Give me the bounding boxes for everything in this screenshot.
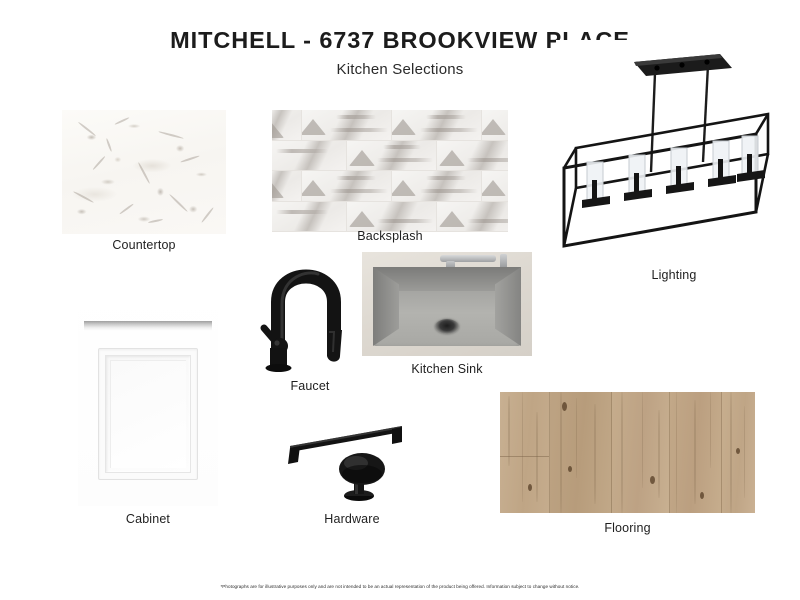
tile-vein: [330, 128, 388, 132]
tile-vein: [272, 122, 284, 138]
tile: [482, 110, 508, 141]
tile: [272, 110, 302, 141]
wood-grain: [694, 400, 696, 504]
tile: [437, 202, 508, 233]
wood-grain: [710, 392, 711, 468]
hardware-label: Hardware: [292, 512, 412, 526]
tile-vein: [336, 115, 376, 119]
tile: [272, 141, 347, 172]
tile-vein: [482, 119, 506, 135]
tile: [272, 171, 302, 202]
selections-board: MITCHELL - 6737 BROOKVIEW PLACE Kitchen …: [0, 0, 800, 600]
countertop-label: Countertop: [62, 238, 226, 252]
wood-knot: [700, 492, 704, 499]
vein-mark: [201, 207, 214, 223]
tile-vein: [377, 219, 433, 223]
wood-grain: [744, 406, 745, 498]
floor-plank: [722, 392, 755, 513]
tile-vein: [392, 180, 416, 196]
tile-vein: [426, 176, 466, 180]
cabinet-drawer-lip: [84, 328, 212, 331]
lighting-swatch[interactable]: [556, 40, 792, 250]
cabinet-swatch[interactable]: [78, 278, 218, 506]
flooring-label: Flooring: [500, 521, 755, 535]
lighting-label: Lighting: [556, 268, 792, 282]
faucet-icon: [256, 246, 364, 372]
vein-mark: [169, 194, 188, 213]
vein-mark: [137, 162, 150, 184]
backsplash-swatch[interactable]: [272, 110, 508, 232]
vein-mark: [180, 155, 200, 163]
tile-vein: [272, 182, 284, 198]
tile-vein: [302, 180, 326, 196]
vein-mark: [73, 191, 94, 204]
tile-vein: [420, 128, 478, 132]
tile-vein: [276, 210, 328, 214]
vein-mark: [119, 203, 134, 215]
tile-vein: [276, 149, 328, 153]
tile-vein: [439, 211, 465, 227]
faucet-label: Faucet: [250, 379, 370, 393]
cabinet-door-panel: [110, 360, 186, 468]
floor-plank: [500, 392, 550, 513]
tile-vein: [467, 158, 508, 162]
wood-grain: [658, 410, 660, 498]
tile-vein: [420, 189, 478, 193]
tile-vein: [349, 211, 375, 227]
vein-mark: [78, 121, 97, 136]
wood-grain: [560, 392, 562, 513]
wood-grain: [594, 404, 596, 504]
tile: [437, 141, 508, 172]
wood-grain: [621, 392, 623, 513]
chandelier-icon: [556, 40, 792, 250]
cabinet-door-frame: [98, 348, 198, 480]
wood-grain: [642, 392, 643, 488]
wood-knot: [736, 448, 740, 454]
vein-mark: [92, 156, 106, 171]
tile: [482, 171, 508, 202]
wood-grain: [522, 392, 523, 502]
wood-knot: [568, 466, 572, 472]
floor-plank: [612, 392, 670, 513]
vein-mark: [148, 218, 163, 223]
tile: [272, 202, 347, 233]
wood-grain: [536, 412, 538, 502]
tile: [347, 141, 437, 172]
tile: [302, 171, 392, 202]
floor-plank: [550, 392, 612, 513]
wood-grain: [676, 392, 677, 513]
sink-bowl: [373, 267, 521, 346]
tile: [302, 110, 392, 141]
tile-vein: [392, 119, 416, 135]
flooring-swatch[interactable]: [500, 392, 755, 513]
tile-vein: [467, 219, 508, 223]
vein-mark: [114, 117, 129, 126]
tile-vein: [383, 145, 421, 149]
tile-vein: [330, 189, 388, 193]
tile: [347, 202, 437, 233]
wood-grain: [730, 392, 732, 513]
wood-grain: [576, 398, 577, 478]
tile-vein: [302, 119, 326, 135]
plank-seam: [500, 456, 550, 457]
cabinet-drawer-reveal: [84, 321, 212, 328]
kitchen-sink-label: Kitchen Sink: [362, 362, 532, 376]
wood-knot: [562, 402, 567, 411]
tile-vein: [426, 115, 466, 119]
hardware-swatch[interactable]: [276, 418, 408, 510]
tile: [392, 171, 482, 202]
cabinet-door-inner-frame: [105, 355, 191, 473]
vein-mark: [158, 131, 184, 140]
tile-vein: [336, 176, 376, 180]
wood-knot: [650, 476, 655, 484]
tile-vein: [377, 158, 433, 162]
countertop-swatch[interactable]: [62, 110, 226, 234]
sink-drain: [435, 319, 459, 334]
tile: [392, 110, 482, 141]
faucet-swatch[interactable]: [256, 246, 364, 372]
backsplash-label: Backsplash: [272, 229, 508, 243]
disclaimer-text: *Photographs are for illustrative purpos…: [0, 584, 800, 589]
kitchen-sink-swatch[interactable]: [362, 252, 532, 356]
tile-vein: [349, 150, 375, 166]
cabinet-label: Cabinet: [78, 512, 218, 526]
floor-plank: [670, 392, 722, 513]
tile-vein: [482, 180, 506, 196]
cabinet-knob-icon: [276, 418, 408, 510]
wood-knot: [528, 484, 532, 491]
tile-vein: [439, 150, 465, 166]
vein-mark: [106, 138, 113, 152]
